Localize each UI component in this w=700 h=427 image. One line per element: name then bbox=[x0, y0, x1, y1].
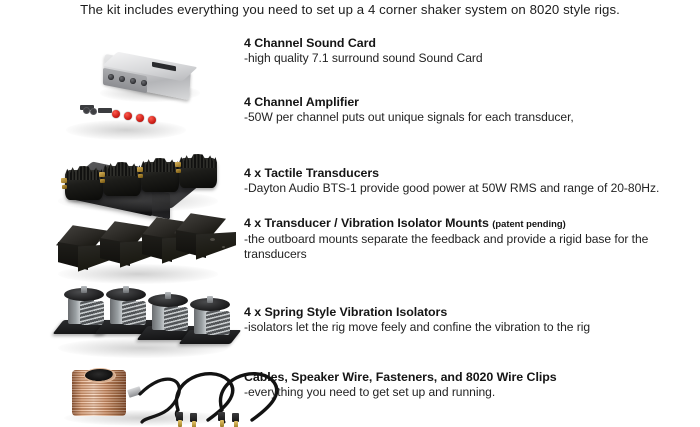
kit-contents-page: The kit includes everything you need to … bbox=[0, 0, 700, 427]
kit-item-spring-isolators: 4 x Spring Style Vibration Isolators -is… bbox=[0, 286, 700, 358]
item-description: -isolators let the rig move feely and co… bbox=[244, 320, 694, 335]
item-description: -Dayton Audio BTS-1 provide good power a… bbox=[244, 181, 694, 196]
item-description: -everything you need to get set up and r… bbox=[244, 385, 694, 400]
isolator-mounts-photo bbox=[0, 212, 240, 286]
tactile-transducers-photo bbox=[0, 140, 240, 212]
item-title: 4 x Transducer / Vibration Isolator Moun… bbox=[244, 216, 694, 231]
item-title: 4 Channel Amplifier bbox=[244, 95, 694, 109]
item-title: 4 x Spring Style Vibration Isolators bbox=[244, 305, 694, 319]
kit-item-cables: Cables, Speaker Wire, Fasteners, and 802… bbox=[0, 358, 700, 427]
kit-item-tactile-transducers: 4 x Tactile Transducers -Dayton Audio BT… bbox=[0, 140, 700, 212]
item-description: -the outboard mounts separate the feedba… bbox=[244, 232, 694, 261]
amplifier-photo bbox=[0, 84, 240, 140]
kit-item-isolator-mounts: 4 x Transducer / Vibration Isolator Moun… bbox=[0, 212, 700, 286]
item-title: 4 x Tactile Transducers bbox=[244, 166, 694, 180]
sound-card-photo bbox=[0, 28, 240, 84]
item-title: Cables, Speaker Wire, Fasteners, and 802… bbox=[244, 370, 694, 384]
item-description: -high quality 7.1 surround sound Sound C… bbox=[244, 51, 694, 66]
patent-pending-note: (patent pending) bbox=[492, 218, 565, 229]
page-title: The kit includes everything you need to … bbox=[0, 2, 700, 17]
spring-isolators-photo bbox=[0, 286, 240, 358]
kit-item-amplifier: 4 Channel Amplifier -50W per channel put… bbox=[0, 84, 700, 140]
kit-item-sound-card: 4 Channel Sound Card -high quality 7.1 s… bbox=[0, 28, 700, 84]
item-title: 4 Channel Sound Card bbox=[244, 36, 694, 50]
cables-photo bbox=[0, 358, 240, 427]
item-description: -50W per channel puts out unique signals… bbox=[244, 110, 694, 125]
